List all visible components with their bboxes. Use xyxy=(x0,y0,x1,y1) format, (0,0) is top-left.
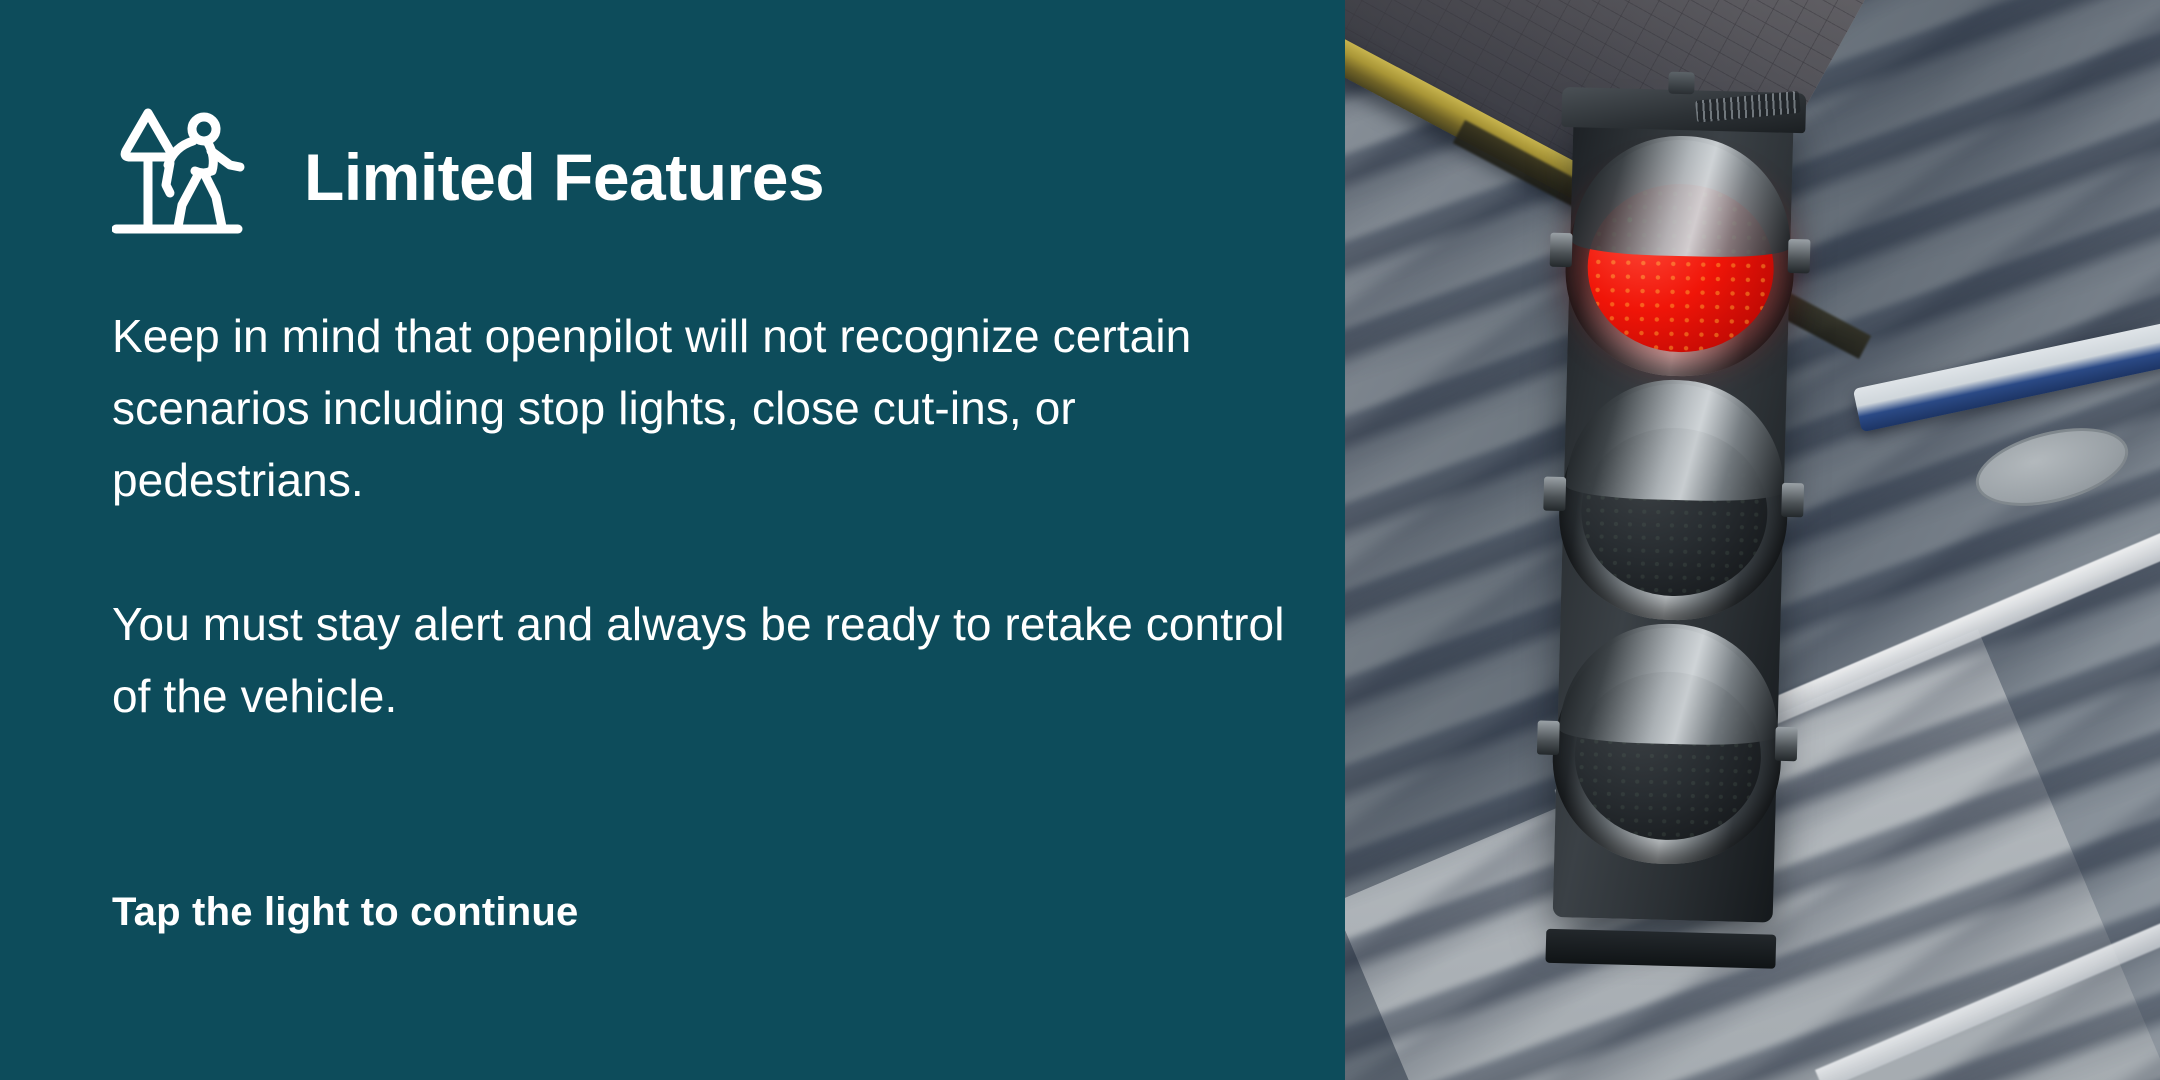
red-lamp-hood xyxy=(1572,133,1793,259)
green-lamp-bolt-left xyxy=(1537,720,1560,755)
red-lamp-bolt-left xyxy=(1550,233,1573,268)
page-title: Limited Features xyxy=(304,144,824,210)
pedestrian-signpost-icon xyxy=(112,113,272,241)
traffic-light-base xyxy=(1545,929,1776,969)
traffic-light[interactable] xyxy=(1534,85,1817,962)
body-paragraph-2: You must stay alert and always be ready … xyxy=(112,588,1292,732)
amber-lamp-bolt-right xyxy=(1781,483,1804,518)
green-lamp-hood xyxy=(1559,621,1780,747)
onboarding-screen: Limited Features Keep in mind that openp… xyxy=(0,0,2160,1080)
tap-to-continue-hint: Tap the light to continue xyxy=(112,890,578,935)
body-paragraph-1: Keep in mind that openpilot will not rec… xyxy=(112,300,1292,516)
panel-body: Keep in mind that openpilot will not rec… xyxy=(112,300,1292,732)
red-lamp[interactable] xyxy=(1563,137,1797,379)
amber-lamp-hood xyxy=(1566,377,1787,503)
green-lamp[interactable] xyxy=(1550,625,1784,867)
panel-header: Limited Features xyxy=(112,100,824,254)
amber-lamp[interactable] xyxy=(1557,381,1791,623)
traffic-light-photo[interactable] xyxy=(1345,0,2160,1080)
traffic-light-antenna xyxy=(1668,72,1695,95)
info-panel: Limited Features Keep in mind that openp… xyxy=(0,0,1345,1080)
red-lamp-bolt-right xyxy=(1788,239,1811,274)
green-lamp-bolt-right xyxy=(1775,727,1798,762)
amber-lamp-bolt-left xyxy=(1543,477,1566,512)
